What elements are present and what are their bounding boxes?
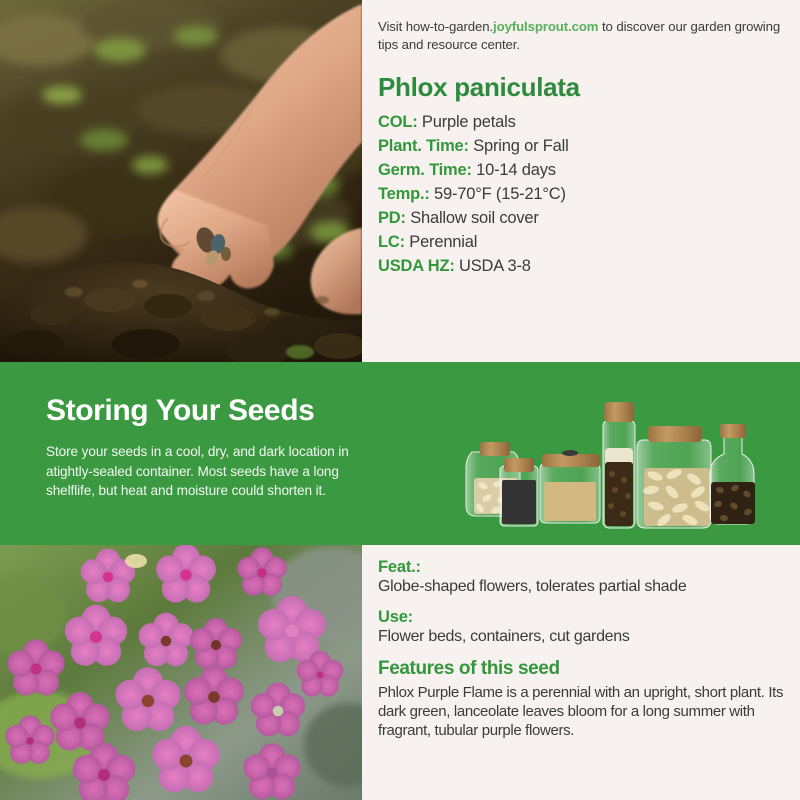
use-label: Use: [378, 608, 630, 627]
spec-value: USDA 3-8 [455, 257, 531, 275]
spec-key: COL: [378, 113, 418, 131]
spec-key: USDA HZ: [378, 257, 455, 275]
spec-key: Plant. Time: [378, 137, 469, 155]
jar-3 [540, 450, 600, 523]
spec-value: Purple petals [418, 113, 516, 131]
spec-row: USDA HZ: USDA 3-8 [378, 257, 790, 276]
spec-key: PD: [378, 209, 406, 227]
spec-row: LC: Perennial [378, 233, 790, 252]
seed-packet-card: Visit how-to-garden.joyfulsprout.com to … [0, 0, 800, 800]
spec-key: Germ. Time: [378, 161, 472, 179]
seed-jars-graphic [452, 382, 782, 540]
spec-key: LC: [378, 233, 405, 251]
spec-row: Plant. Time: Spring or Fall [378, 137, 790, 156]
soil-photo [0, 0, 362, 362]
feat-label: Feat.: [378, 558, 686, 577]
spec-key: Temp.: [378, 185, 430, 203]
seed-jars-illustration [452, 382, 782, 540]
spec-value: 59-70°F (15-21°C) [430, 185, 566, 203]
soil-photo-graphic [0, 0, 362, 362]
visit-line: Visit how-to-garden.joyfulsprout.com to … [378, 18, 784, 54]
spec-value: Spring or Fall [469, 137, 569, 155]
spec-row: COL: Purple petals [378, 113, 790, 132]
top-info-panel: Visit how-to-garden.joyfulsprout.com to … [362, 0, 800, 362]
use-block: Use: Flower beds, containers, cut garden… [378, 608, 630, 646]
use-text: Flower beds, containers, cut gardens [378, 628, 630, 646]
phlox-photo-graphic [0, 545, 362, 800]
spec-value: Perennial [405, 233, 477, 251]
feature-block: Feat.: Globe-shaped flowers, tolerates p… [378, 558, 686, 596]
bottom-section: Feat.: Globe-shaped flowers, tolerates p… [0, 545, 800, 800]
top-section: Visit how-to-garden.joyfulsprout.com to … [0, 0, 800, 362]
spec-value: Shallow soil cover [406, 209, 539, 227]
spec-list: COL: Purple petals Plant. Time: Spring o… [378, 113, 790, 281]
jar-6 [710, 424, 755, 524]
storing-body: Store your seeds in a cool, dry, and dar… [46, 442, 364, 501]
spec-value: 10-14 days [472, 161, 556, 179]
feat-text: Globe-shaped flowers, tolerates partial … [378, 578, 686, 596]
phlox-photo [0, 545, 362, 800]
features-heading: Features of this seed [378, 658, 560, 680]
storing-title: Storing Your Seeds [46, 394, 314, 428]
spec-row: PD: Shallow soil cover [378, 209, 790, 228]
storing-seeds-band: Storing Your Seeds Store your seeds in a… [0, 362, 800, 545]
jar-5 [637, 426, 711, 528]
spec-row: Germ. Time: 10-14 days [378, 161, 790, 180]
species-title: Phlox paniculata [378, 72, 580, 103]
jar-4 [603, 402, 635, 528]
features-paragraph: Phlox Purple Flame is a perennial with a… [378, 684, 788, 741]
jar-2 [500, 458, 538, 526]
website-link[interactable]: joyfulsprout.com [493, 19, 598, 34]
visit-pre-text: Visit how-to-garden. [378, 19, 493, 34]
bottom-info-panel: Feat.: Globe-shaped flowers, tolerates p… [362, 545, 800, 800]
spec-row: Temp.: 59-70°F (15-21°C) [378, 185, 790, 204]
